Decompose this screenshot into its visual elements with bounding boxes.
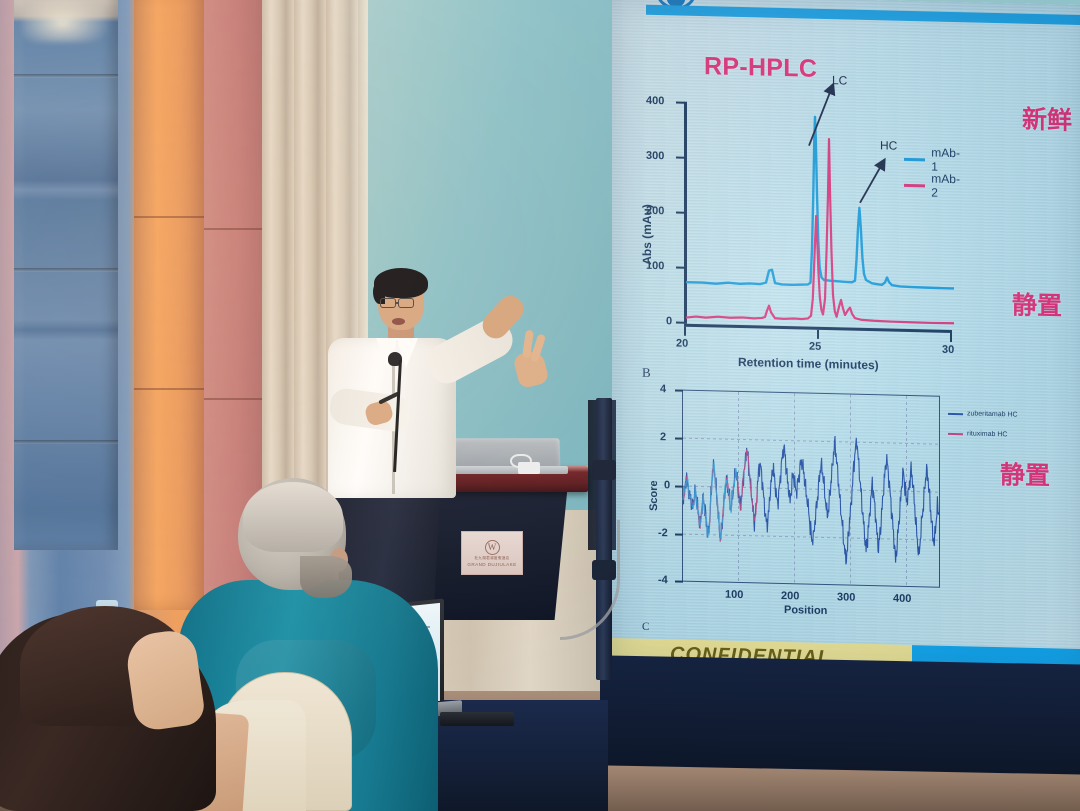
eyeglasses-left-lens	[380, 298, 396, 308]
arrow-lc	[809, 87, 832, 147]
legend-swatch-rituximab	[948, 432, 963, 434]
legend-item-mab-2: mAb-2	[904, 171, 963, 200]
arrow-hc	[860, 162, 883, 204]
score-traces	[642, 383, 982, 621]
legend-label-mab-1: mAb-1	[931, 146, 962, 175]
eyeglasses-bridge	[396, 302, 399, 304]
presentation-slide: RP-HPLC 新鲜 静置 静置 400 300 200 100 0	[612, 0, 1080, 680]
pillar-seam	[204, 398, 266, 400]
panel-letter-b: B	[642, 365, 651, 381]
legend-swatch-zuberitamab	[948, 412, 963, 414]
venue-name-chinese: 杜九湖君澜度假酒店	[474, 556, 509, 561]
annotation-lc-label: LC	[832, 73, 847, 87]
legend-item-mab-1: mAb-1	[904, 145, 963, 174]
speaker-mouth	[392, 318, 405, 325]
legend-swatch-mab-2	[904, 183, 925, 187]
desk-equipment	[440, 712, 514, 726]
rp-hplc-chromatogram: 400 300 200 100 0 20 25 30 Abs (mAu) Ret…	[642, 95, 962, 353]
presenter-laptop-base	[446, 466, 568, 474]
stage-drape	[600, 655, 1080, 774]
annotation-hc-label: HC	[880, 138, 897, 152]
orange-pillar	[134, 0, 206, 610]
presentation-photo-scene: RP-HPLC 新鲜 静置 静置 400 300 200 100 0	[0, 0, 1080, 811]
pillar-seam	[204, 228, 266, 230]
legend-label-mab-2: mAb-2	[931, 172, 962, 201]
side-label-fresh: 新鲜	[1022, 100, 1072, 137]
pillar-seam	[134, 216, 206, 218]
stone-highlight	[22, 0, 112, 42]
x-axis-title: Retention time (minutes)	[738, 355, 879, 372]
trace-zuberitamab-hc	[683, 432, 939, 566]
legend-label-rituximab: rituximab HC	[967, 430, 1007, 438]
legend-label-zuberitamab: zuberitamab HC	[967, 410, 1018, 418]
slide-accent-bar	[646, 5, 1080, 26]
pillar-seam	[134, 388, 206, 390]
audience-man-beard	[300, 556, 352, 598]
venue-monogram-icon: W	[485, 540, 500, 555]
projection-screen: RP-HPLC 新鲜 静置 静置 400 300 200 100 0	[612, 0, 1080, 680]
annotation-arrows	[642, 95, 962, 353]
stone-column-decor	[14, 0, 118, 550]
side-label-standing-1: 静置	[1012, 285, 1062, 322]
eyeglasses-right-lens	[398, 298, 414, 308]
stone-seam	[14, 74, 118, 78]
side-label-standing-2: 静置	[1000, 455, 1050, 492]
slide-title: RP-HPLC	[704, 52, 817, 84]
venue-plaque: W 杜九湖君澜度假酒店 GRAND DUJIULAKE	[461, 531, 523, 575]
audience-man-hair	[243, 482, 343, 552]
legend-item-rituximab: rituximab HC	[948, 430, 1007, 438]
stone-seam	[14, 440, 118, 444]
legend-swatch-mab-1	[904, 157, 925, 161]
hydropathy-score-plot: 4 2 0 -2 -4 100 200 300 400 Score Positi…	[642, 383, 982, 621]
presentation-clicker	[518, 462, 540, 474]
stone-seam	[14, 268, 118, 272]
panel-letter-c: C	[642, 621, 649, 633]
venue-name-english: GRAND DUJIULAKE	[467, 562, 516, 567]
tripod-knob	[592, 460, 616, 480]
